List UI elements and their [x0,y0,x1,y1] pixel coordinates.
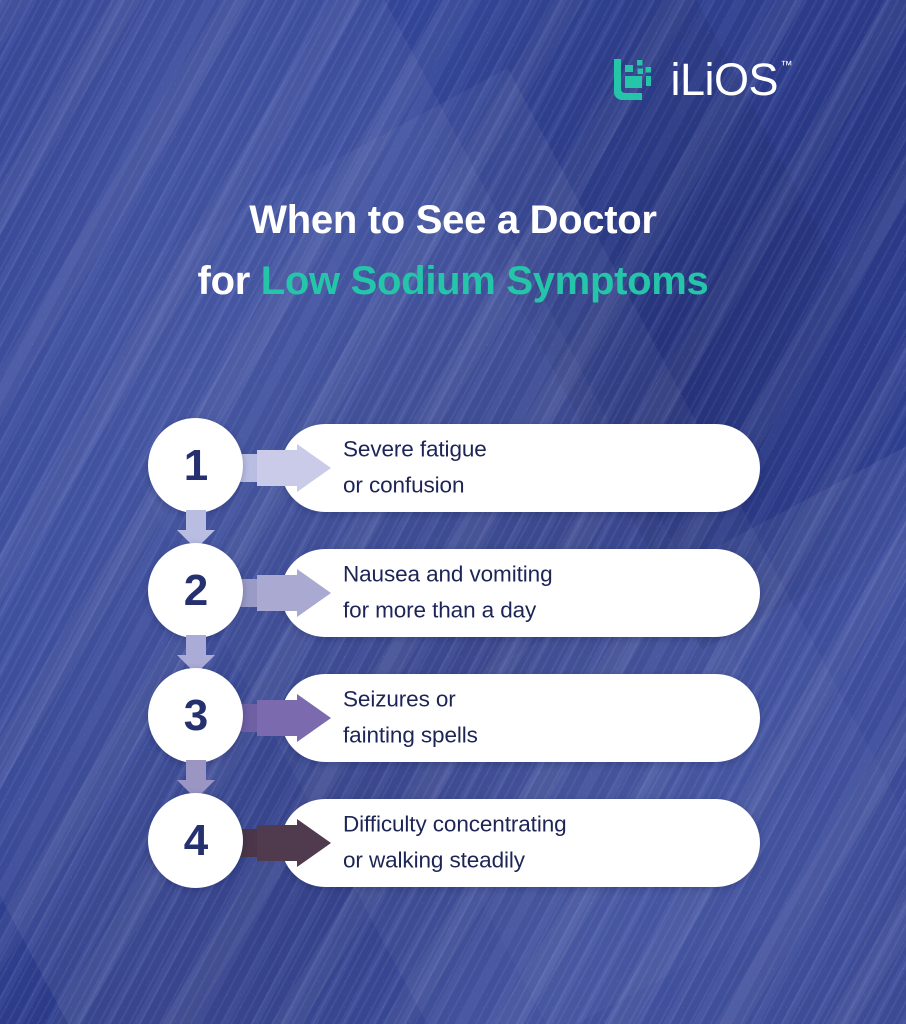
trademark-symbol: ™ [781,59,793,71]
step-row: Nausea and vomiting for more than a day … [0,543,906,668]
step-number: 1 [184,444,207,488]
title-line-2-prefix: for [198,259,261,303]
step-row: Difficulty concentrating or walking stea… [0,793,906,918]
title-highlight: Low Sodium Symptoms [261,259,709,303]
step-text: Seizures or fainting spells [343,682,478,755]
step-number: 3 [184,694,207,738]
step-row: Seizures or fainting spells 3 [0,668,906,793]
infographic-poster: iLiOS ™ When to See a Doctor for Low Sod… [0,0,906,1024]
step-text: Difficulty concentrating or walking stea… [343,807,567,880]
step-number-circle[interactable]: 3 [148,668,243,763]
step-text: Severe fatigue or confusion [343,432,487,505]
step-text-pill[interactable]: Nausea and vomiting for more than a day [281,549,760,637]
step-number-circle[interactable]: 4 [148,793,243,888]
page-title: When to See a Doctor for Low Sodium Symp… [0,190,906,312]
title-line-1: When to See a Doctor [0,190,906,251]
step-row: Severe fatigue or confusion 1 [0,418,906,543]
step-number: 2 [184,569,207,613]
step-number-circle[interactable]: 1 [148,418,243,513]
step-text: Nausea and vomiting for more than a day [343,557,552,630]
brand-logo: iLiOS ™ [610,56,778,102]
step-text-pill[interactable]: Seizures or fainting spells [281,674,760,762]
step-text-pill[interactable]: Difficulty concentrating or walking stea… [281,799,760,887]
step-text-pill[interactable]: Severe fatigue or confusion [281,424,760,512]
step-number-circle[interactable]: 2 [148,543,243,638]
title-line-2: for Low Sodium Symptoms [0,251,906,312]
brand-wordmark: iLiOS ™ [670,57,778,102]
steps-list: Severe fatigue or confusion 1 Nausea and… [0,418,906,918]
ilios-monogram-icon [610,56,656,102]
step-number: 4 [184,819,207,863]
brand-wordmark-text: iLiOS [670,54,778,105]
